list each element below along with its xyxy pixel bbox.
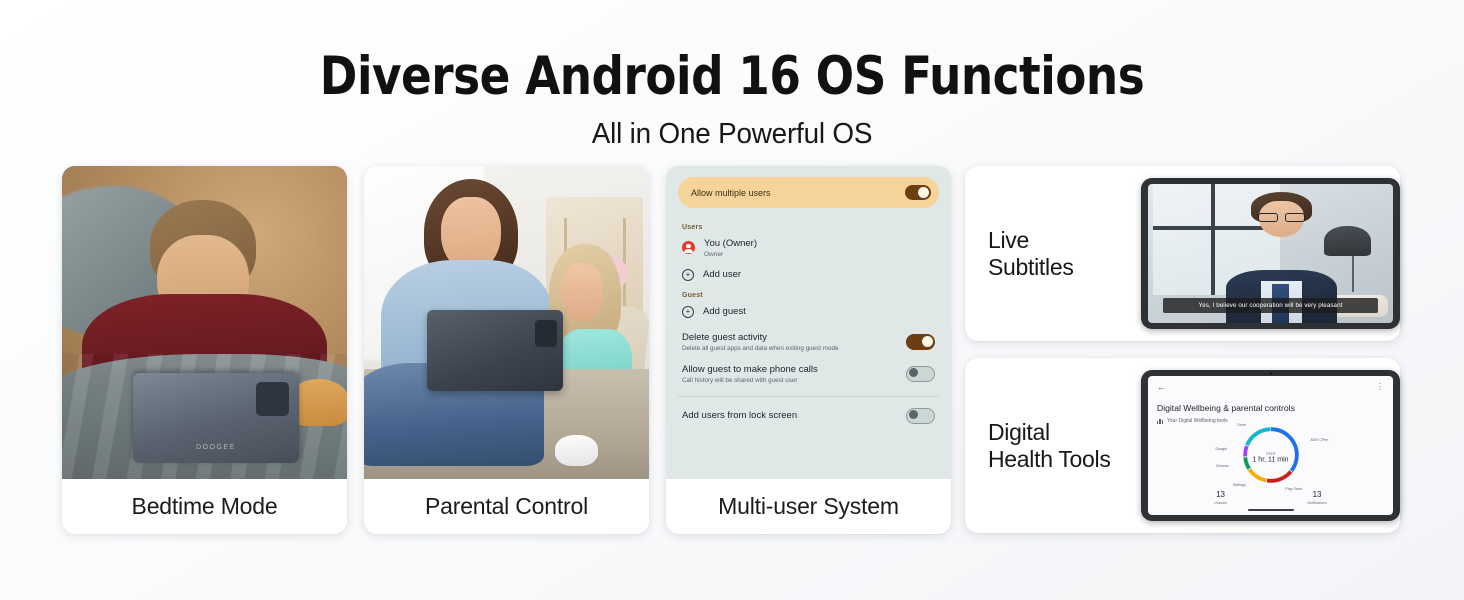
- photo-tablet-camera: [256, 382, 289, 416]
- photo-tablet-camera: [535, 320, 557, 348]
- add-user-icon: +: [682, 269, 694, 281]
- photo-tablet-brand: DOOGEE: [133, 444, 298, 451]
- bedtime-mode-photo: DOOGEE: [62, 166, 347, 479]
- toggle-knob-icon: [909, 410, 918, 419]
- subtitle-bar: Yes, I believe our cooperation will be v…: [1163, 298, 1379, 313]
- feature-card-bedtime-mode[interactable]: DOOGEE Bedtime Mode: [62, 166, 347, 534]
- video-call-frame: Yes, I believe our cooperation will be v…: [1148, 184, 1393, 323]
- screen-time-donut-chart: Used 1 hr, 11 min AWS CPenPlay StoreSett…: [1148, 424, 1393, 490]
- photo-sock: [555, 435, 598, 466]
- allow-guest-phone-calls-text: Allow guest to make phone calls Call his…: [682, 364, 818, 384]
- delete-guest-activity-row[interactable]: Delete guest activity Delete all guest a…: [678, 332, 939, 352]
- allow-multiple-users-label: Allow multiple users: [691, 188, 771, 198]
- add-guest-label: Add guest: [703, 306, 746, 317]
- glasses-icon: [1258, 213, 1305, 221]
- add-users-from-lock-screen-row[interactable]: Add users from lock screen: [678, 408, 939, 424]
- photo-boy-tablet-bed: DOOGEE: [62, 166, 347, 479]
- add-user-label: Add user: [703, 269, 741, 280]
- more-options-icon[interactable]: ⋮: [1376, 383, 1384, 391]
- subtitle-text: Yes, I believe our cooperation will be v…: [1199, 302, 1343, 309]
- feature-card-grid: DOOGEE Bedtime Mode: [62, 166, 951, 534]
- live-subtitles-label-line2: Subtitles: [988, 254, 1141, 281]
- multi-user-settings-screen: Allow multiple users Users You (Owner) O…: [666, 166, 951, 479]
- stat-notifications-label: Notifications: [1307, 501, 1327, 505]
- toggle-knob-icon: [918, 187, 929, 198]
- donut-label-4: Google: [1215, 447, 1227, 451]
- donut-label-3: Chrome: [1216, 464, 1229, 468]
- card-caption-parental-control: Parental Control: [364, 479, 649, 534]
- donut-label-2: Settings: [1233, 483, 1246, 487]
- toggle-knob-icon: [922, 336, 933, 347]
- photo-mother-daughter-tablet: [364, 166, 649, 479]
- screen-top-bar: ← ⋮: [1157, 383, 1384, 392]
- delete-guest-activity-text: Delete guest activity Delete all guest a…: [682, 332, 838, 352]
- page-title: Diverse Android 16 OS Functions: [37, 48, 1428, 105]
- digital-health-tools-label-line1: Digital: [988, 419, 1141, 446]
- allow-guest-phone-calls-title: Allow guest to make phone calls: [682, 364, 818, 375]
- video-lamp: [1324, 226, 1371, 257]
- user-row-text: You (Owner) Owner: [704, 238, 757, 258]
- card-caption-multi-user-system: Multi-user System: [666, 479, 951, 534]
- wellbeing-title: Digital Wellbeing & parental controls: [1157, 403, 1384, 413]
- user-row-owner[interactable]: You (Owner) Owner: [678, 238, 939, 258]
- guest-section-header: Guest: [682, 292, 939, 299]
- users-section-header: Users: [682, 224, 939, 231]
- stat-notifications-value: 13: [1307, 490, 1327, 499]
- video-lamp-stem: [1352, 256, 1354, 292]
- front-camera-icon: [1269, 372, 1272, 375]
- owner-role: Owner: [704, 251, 757, 258]
- digital-wellbeing-screen: ← ⋮ Digital Wellbeing & parental control…: [1148, 376, 1393, 515]
- delete-guest-activity-desc: Delete all guest apps and data when exit…: [682, 345, 838, 352]
- donut-label-5: Drive: [1237, 423, 1245, 427]
- live-subtitles-label-line1: Live: [988, 227, 1141, 254]
- digital-health-tools-label: Digital Health Tools: [988, 419, 1141, 472]
- promo-page: Diverse Android 16 OS Functions All in O…: [0, 0, 1464, 600]
- back-arrow-icon[interactable]: ←: [1157, 383, 1166, 392]
- donut-center-label: Used: [1241, 451, 1301, 456]
- feature-card-digital-health-tools[interactable]: Digital Health Tools ← ⋮ Digital Wellbei…: [965, 358, 1400, 533]
- card-caption-bedtime-mode: Bedtime Mode: [62, 479, 347, 534]
- feature-card-live-subtitles[interactable]: Live Subtitles: [965, 166, 1400, 341]
- add-users-from-lock-screen-title: Add users from lock screen: [682, 410, 797, 421]
- owner-name: You (Owner): [704, 238, 757, 249]
- toggle-knob-icon: [909, 368, 918, 377]
- feature-card-parental-control[interactable]: Parental Control: [364, 166, 649, 534]
- live-subtitles-label: Live Subtitles: [988, 227, 1141, 280]
- settings-panel: Allow multiple users Users You (Owner) O…: [666, 166, 951, 479]
- home-indicator: [1248, 509, 1294, 511]
- donut-center-readout: Used 1 hr, 11 min: [1241, 451, 1301, 464]
- tablet-screen: Yes, I believe our cooperation will be v…: [1148, 184, 1393, 323]
- add-guest-row[interactable]: + Add guest: [678, 306, 939, 318]
- photo-tablet-device: DOOGEE: [133, 373, 298, 464]
- digital-health-tools-label-line2: Health Tools: [988, 446, 1141, 473]
- photo-tablet-device: [427, 310, 564, 391]
- donut-label-0: AWS CPen: [1310, 438, 1328, 442]
- right-card-column: Live Subtitles: [965, 166, 1400, 533]
- donut-center-value: 1 hr, 11 min: [1241, 457, 1301, 464]
- stat-unlocks-value: 13: [1214, 490, 1227, 499]
- page-subtitle: All in One Powerful OS: [29, 118, 1434, 151]
- stat-unlocks: 13 Unlocks: [1214, 490, 1227, 505]
- allow-multiple-users-toggle[interactable]: [905, 185, 931, 200]
- add-users-from-lock-screen-toggle[interactable]: [906, 408, 935, 424]
- add-guest-icon: +: [682, 306, 694, 318]
- allow-guest-phone-calls-row[interactable]: Allow guest to make phone calls Call his…: [678, 364, 939, 384]
- header-block: Diverse Android 16 OS Functions All in O…: [0, 0, 1464, 151]
- tablet-screen: ← ⋮ Digital Wellbeing & parental control…: [1148, 376, 1393, 515]
- settings-divider: [678, 396, 939, 397]
- feature-card-multi-user-system[interactable]: Allow multiple users Users You (Owner) O…: [666, 166, 951, 534]
- user-avatar-icon: [682, 241, 695, 254]
- parental-control-photo: [364, 166, 649, 479]
- delete-guest-activity-toggle[interactable]: [906, 334, 935, 350]
- allow-guest-phone-calls-toggle[interactable]: [906, 366, 935, 382]
- tablet-device-live-subtitles: Yes, I believe our cooperation will be v…: [1141, 178, 1400, 329]
- wellbeing-stats-row: 13 Unlocks 13 Notifications: [1148, 490, 1393, 505]
- add-user-row[interactable]: + Add user: [678, 269, 939, 281]
- tablet-device-digital-wellbeing: ← ⋮ Digital Wellbeing & parental control…: [1141, 370, 1400, 521]
- stat-notifications: 13 Notifications: [1307, 490, 1327, 505]
- allow-guest-phone-calls-desc: Call history will be shared with guest u…: [682, 377, 818, 384]
- allow-multiple-users-row[interactable]: Allow multiple users: [678, 177, 939, 208]
- delete-guest-activity-title: Delete guest activity: [682, 332, 838, 343]
- stat-unlocks-label: Unlocks: [1214, 501, 1227, 505]
